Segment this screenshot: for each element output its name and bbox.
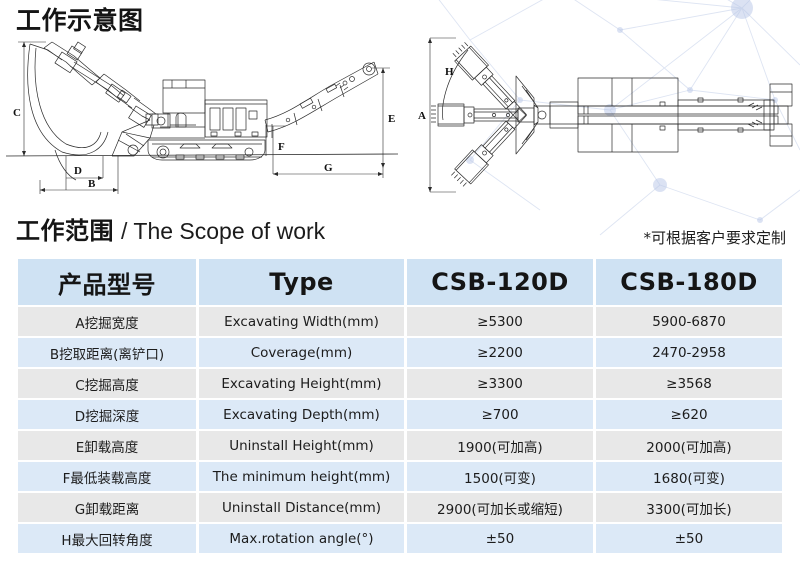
- table-row: G卸载距离 Uninstall Distance(mm) 2900(可加长或缩短…: [18, 493, 782, 522]
- row-csb180d: 2000(可加高): [596, 431, 782, 460]
- page-title: 工作示意图: [16, 6, 144, 36]
- dim-label-F: F: [278, 141, 285, 153]
- dim-label-C: C: [13, 107, 21, 119]
- row-model: F最低装载高度: [18, 462, 196, 491]
- row-model: D挖掘深度: [18, 400, 196, 429]
- top-view-diagram: A H: [408, 20, 800, 205]
- row-model: E卸载高度: [18, 431, 196, 460]
- row-csb120d: ≥2200: [407, 338, 593, 367]
- row-csb180d: 2470-2958: [596, 338, 782, 367]
- side-view-diagram: C D B F G E: [0, 28, 400, 198]
- row-type: The minimum height(mm): [199, 462, 404, 491]
- table-row: E卸载高度 Uninstall Height(mm) 1900(可加高) 200…: [18, 431, 782, 460]
- table-header-row: 产品型号 Type CSB-120D CSB-180D: [18, 259, 782, 305]
- row-csb120d: 1900(可加高): [407, 431, 593, 460]
- header-cell-type: Type: [199, 259, 404, 305]
- table-row: A挖掘宽度 Excavating Width(mm) ≥5300 5900-68…: [18, 307, 782, 336]
- row-csb120d: ≥700: [407, 400, 593, 429]
- row-csb180d: ≥620: [596, 400, 782, 429]
- dim-label-A: A: [418, 110, 426, 122]
- dim-label-H: H: [445, 66, 454, 78]
- row-type: Uninstall Distance(mm): [199, 493, 404, 522]
- page-root: 工作示意图: [0, 0, 800, 582]
- row-csb120d: 2900(可加长或缩短): [407, 493, 593, 522]
- dim-label-E: E: [388, 113, 395, 125]
- row-model: G卸载距离: [18, 493, 196, 522]
- row-csb120d: ±50: [407, 524, 593, 553]
- row-csb180d: 5900-6870: [596, 307, 782, 336]
- table-row: B挖取距离(离铲口) Coverage(mm) ≥2200 2470-2958: [18, 338, 782, 367]
- scope-of-work-heading: 工作范围 / The Scope of work: [16, 216, 325, 246]
- scope-title-chinese: 工作范围: [16, 216, 114, 246]
- row-csb120d: 1500(可变): [407, 462, 593, 491]
- row-model: C挖掘高度: [18, 369, 196, 398]
- row-csb120d: ≥5300: [407, 307, 593, 336]
- table-row: F最低装载高度 The minimum height(mm) 1500(可变) …: [18, 462, 782, 491]
- row-model: B挖取距离(离铲口): [18, 338, 196, 367]
- row-model: A挖掘宽度: [18, 307, 196, 336]
- dim-label-D: D: [74, 165, 82, 177]
- row-csb180d: ≥3568: [596, 369, 782, 398]
- dim-label-G: G: [324, 162, 333, 174]
- row-type: Excavating Depth(mm): [199, 400, 404, 429]
- row-model: H最大回转角度: [18, 524, 196, 553]
- row-type: Excavating Height(mm): [199, 369, 404, 398]
- row-type: Excavating Width(mm): [199, 307, 404, 336]
- table-row: C挖掘高度 Excavating Height(mm) ≥3300 ≥3568: [18, 369, 782, 398]
- row-csb180d: 3300(可加长): [596, 493, 782, 522]
- row-csb120d: ≥3300: [407, 369, 593, 398]
- specification-table: 产品型号 Type CSB-120D CSB-180D A挖掘宽度 Excava…: [15, 257, 785, 555]
- row-type: Coverage(mm): [199, 338, 404, 367]
- table-row: H最大回转角度 Max.rotation angle(°) ±50 ±50: [18, 524, 782, 553]
- customization-note: *可根据客户要求定制: [643, 227, 786, 248]
- row-type: Uninstall Height(mm): [199, 431, 404, 460]
- header-cell-model: 产品型号: [18, 259, 196, 305]
- table-row: D挖掘深度 Excavating Depth(mm) ≥700 ≥620: [18, 400, 782, 429]
- row-type: Max.rotation angle(°): [199, 524, 404, 553]
- scope-title-english: The Scope of work: [133, 218, 325, 245]
- dim-label-B: B: [88, 178, 96, 190]
- scope-title-separator: /: [121, 218, 127, 245]
- row-csb180d: 1680(可变): [596, 462, 782, 491]
- header-cell-csb180d: CSB-180D: [596, 259, 782, 305]
- row-csb180d: ±50: [596, 524, 782, 553]
- header-cell-csb120d: CSB-120D: [407, 259, 593, 305]
